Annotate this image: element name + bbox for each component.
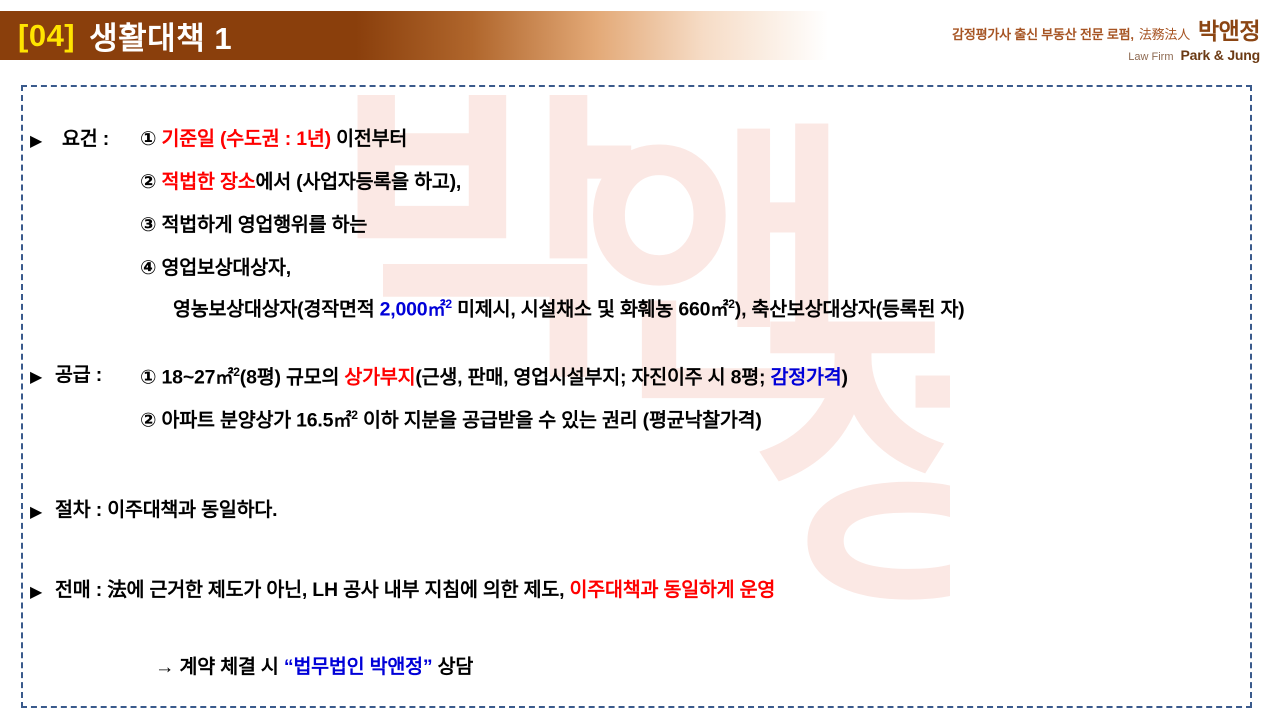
- requirement-item-3-marker: ③: [140, 214, 156, 236]
- brand-tagline: 감정평가사 출신 부동산 전문 로펌,: [952, 24, 1134, 43]
- supply-item-2-pre: 아파트 분양상가 16.5: [162, 410, 334, 432]
- bullet-resale-icon: ▶: [30, 585, 42, 601]
- supply-item-1: ① 18~27㎡2(8평) 규모의 상가부지(근생, 판매, 영업시설부지; 자…: [140, 366, 848, 388]
- req4-area-unit-2: ㎡: [710, 300, 728, 320]
- supply-item-2-marker: ②: [140, 410, 156, 432]
- brand-hanja: 法務法人: [1139, 24, 1190, 43]
- brand-logo: 감정평가사 출신 부동산 전문 로펌, 法務法人 박앤정 Law Firm Pa…: [952, 12, 1260, 63]
- bullet-procedure-icon: ▶: [30, 505, 42, 521]
- slide-root: 박 앤 정 [04] 생활대책 1 감정평가사 출신 부동산 전문 로펌, 法務…: [0, 0, 1280, 720]
- page-title-number: [04]: [18, 18, 75, 54]
- closing-note-firm: “법무법인 박앤정”: [284, 656, 433, 678]
- requirement-item-4: ④ 영업보상대상자,: [140, 259, 291, 279]
- label-requirements: 요건 :: [62, 130, 109, 150]
- resale-text-pre: 전매 : 法에 근거한 제도가 아닌, LH 공사 내부 지침에 의한 제도,: [55, 579, 570, 601]
- requirement-item-3-rest: 적법하게 영업행위를 하는: [162, 214, 368, 236]
- label-supply: 공급 :: [55, 366, 102, 386]
- brand-line-secondary: Law Firm Park & Jung: [952, 47, 1260, 63]
- page-title: [04] 생활대책 1: [18, 11, 232, 60]
- slide-body: ▶ 요건 : ① 기준일 (수도권 : 1년) 이전부터 ② 적법한 장소에서 …: [0, 85, 1280, 708]
- resale-text: 전매 : 法에 근거한 제도가 아닌, LH 공사 내부 지침에 의한 제도, …: [55, 581, 775, 601]
- req4-cont-post: ), 축산보상대상자(등록된 자): [735, 299, 965, 321]
- requirement-item-3: ③ 적법하게 영업행위를 하는: [140, 216, 367, 236]
- supply-item-2-unit: ㎡: [333, 411, 351, 431]
- brand-line-primary: 감정평가사 출신 부동산 전문 로펌, 法務法人 박앤정: [952, 12, 1260, 46]
- supply-item-2-post: 이하 지분을 공급받을 수 있는 권리 (평균낙찰가격): [358, 410, 762, 432]
- requirement-item-2: ② 적법한 장소에서 (사업자등록을 하고),: [140, 173, 461, 193]
- supply-item-1-mid: (근생, 판매, 영업시설부지; 자진이주 시 8평;: [415, 367, 770, 389]
- supply-item-1-pre2: (8평) 규모의: [240, 367, 345, 389]
- closing-note-pre: 계약 체결 시: [174, 656, 284, 678]
- supply-item-2: ② 아파트 분양상가 16.5㎡2 이하 지분을 공급받을 수 있는 권리 (평…: [140, 409, 762, 431]
- requirement-item-1-rest: 이전부터: [331, 128, 407, 150]
- supply-item-1-red: 상가부지: [344, 367, 415, 389]
- requirement-item-1: ① 기준일 (수도권 : 1년) 이전부터: [140, 130, 407, 150]
- req4-area-unit-1: ㎡: [427, 300, 445, 320]
- supply-item-1-pre: 18~27: [162, 367, 216, 389]
- requirement-item-2-rest: 에서 (사업자등록을 하고),: [255, 171, 461, 193]
- bullet-supply-icon: ▶: [30, 370, 42, 386]
- requirement-item-2-highlight: 적법한 장소: [162, 171, 256, 193]
- requirement-item-1-highlight: 기준일 (수도권 : 1년): [162, 128, 331, 150]
- brand-lawfirm-label: Law Firm: [1128, 51, 1173, 63]
- resale-text-highlight: 이주대책과 동일하게 운영: [570, 579, 776, 601]
- requirement-item-4-marker: ④: [140, 257, 156, 279]
- arrow-icon: →: [155, 656, 174, 678]
- req4-cont-pre: 영농보상대상자(경작면적: [173, 299, 380, 321]
- requirement-item-1-marker: ①: [140, 128, 156, 150]
- procedure-text: 절차 : 이주대책과 동일하다.: [55, 501, 277, 521]
- brand-firm-name: 박앤정: [1198, 12, 1260, 46]
- requirement-item-2-marker: ②: [140, 171, 156, 193]
- supply-item-1-blue: 감정가격: [771, 367, 842, 389]
- req4-area-value-1: 2,000: [380, 299, 428, 321]
- closing-note-post: 상담: [432, 656, 473, 678]
- closing-note: → 계약 체결 시 “법무법인 박앤정” 상담: [155, 658, 473, 678]
- requirement-item-4-rest: 영업보상대상자,: [162, 257, 291, 279]
- brand-firm-name-en: Park & Jung: [1181, 47, 1261, 63]
- req4-cont-mid: 미제시, 시설채소 및 화훼농 660: [452, 299, 710, 321]
- supply-item-1-post: ): [841, 367, 847, 389]
- bullet-requirements-icon: ▶: [30, 134, 42, 150]
- page-title-label: 생활대책 1: [89, 13, 232, 58]
- requirement-item-4-continuation: 영농보상대상자(경작면적 2,000㎡2 미제시, 시설채소 및 화훼농 660…: [173, 298, 964, 320]
- supply-item-1-unit: ㎡: [215, 368, 233, 388]
- supply-item-1-marker: ①: [140, 367, 156, 389]
